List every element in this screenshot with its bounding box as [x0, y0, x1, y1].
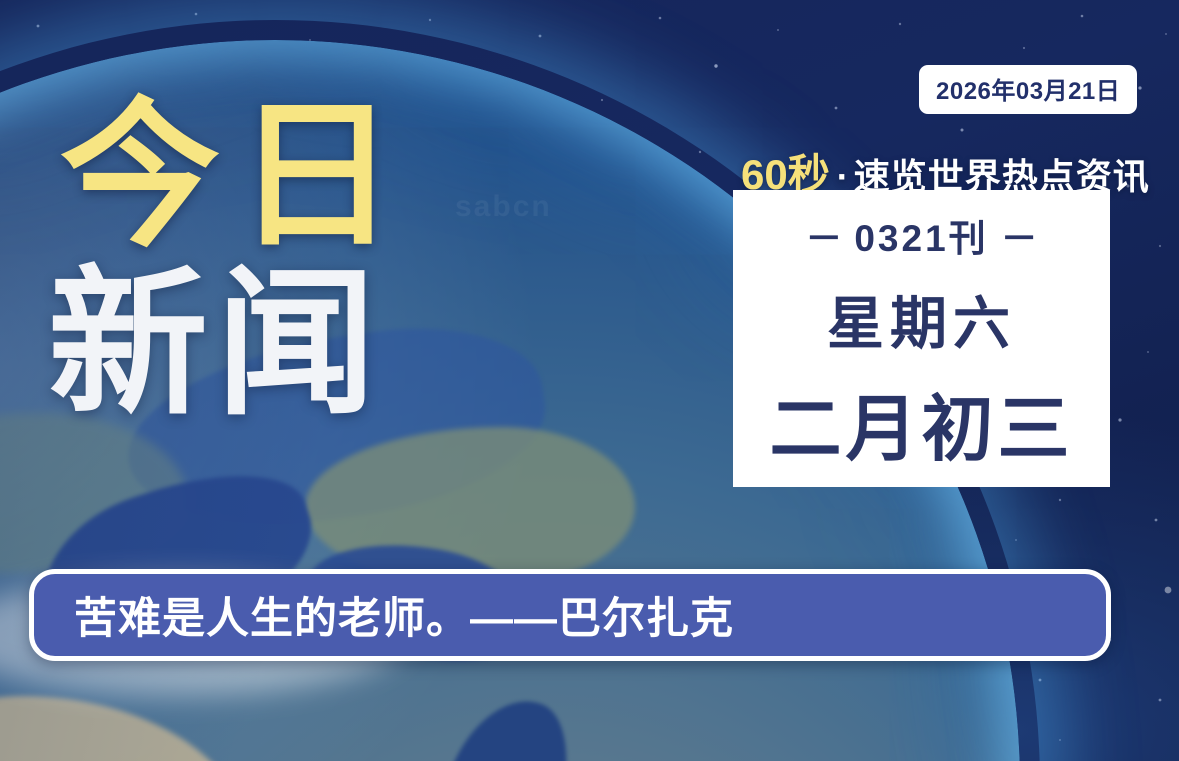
dash-right: －	[989, 218, 1050, 259]
issue-number: 0321刊	[854, 218, 988, 259]
quote-text: 苦难是人生的老师。——巴尔扎克	[74, 584, 734, 646]
page-title: 今日 新闻	[60, 100, 412, 420]
lunar-date-label: 二月初三	[769, 370, 1073, 475]
date-info-card: －0321刊－ 星期六 二月初三	[733, 190, 1110, 487]
issue-number-row: －0321刊－	[793, 208, 1049, 262]
weekday-label: 星期六	[827, 278, 1016, 360]
title-line-today: 今日	[60, 100, 412, 252]
watermark: sabcn	[455, 190, 552, 224]
quote-bar: 苦难是人生的老师。——巴尔扎克	[29, 569, 1111, 661]
dash-left: －	[793, 218, 854, 259]
news-poster: sabcn 2026年03月21日 今日 新闻 60秒·速览世界热点资讯 －03…	[0, 0, 1179, 761]
title-line-news: 新闻	[48, 268, 412, 420]
date-badge: 2026年03月21日	[919, 65, 1137, 114]
